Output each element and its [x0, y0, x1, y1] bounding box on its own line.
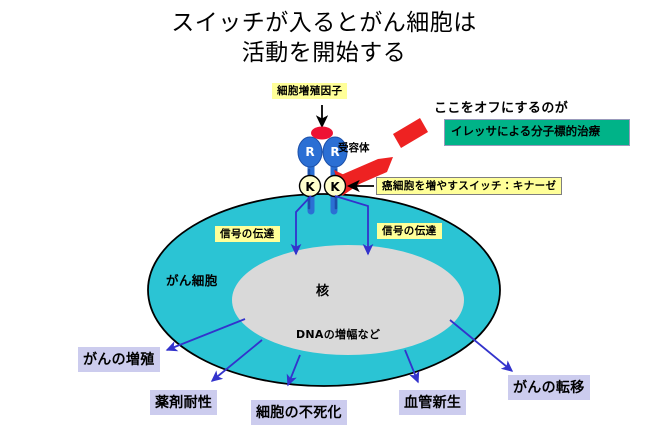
- diagram-canvas: スイッチが入るとがん細胞は 活動を開始する: [0, 0, 648, 432]
- outcome-label-metastasis: がんの転移: [508, 375, 590, 400]
- dna-amplification-label: DNAの増幅など: [296, 326, 380, 342]
- receptor-domain-right-letter: R: [327, 145, 343, 159]
- kinase-right-letter: K: [327, 180, 343, 194]
- kinase-left-letter: K: [302, 180, 318, 194]
- signal-transduction-label-left: 信号の伝達: [215, 226, 280, 242]
- cancer-cell-label: がん細胞: [166, 270, 218, 289]
- nucleus-label: 核: [316, 280, 330, 299]
- receptor-domain-left-letter: R: [302, 145, 318, 159]
- outcome-label-angiogenesis: 血管新生: [399, 390, 466, 415]
- targeted-therapy-callout: イレッサによる分子標的治療: [444, 119, 630, 146]
- outcome-label-immortalization: 細胞の不死化: [251, 400, 347, 425]
- growth-factor-callout: 細胞増殖因子: [272, 83, 347, 99]
- growth-factor-ligand: [311, 127, 333, 140]
- outcome-label-drug-resistance: 薬剤耐性: [150, 390, 217, 415]
- signal-transduction-label-right: 信号の伝達: [377, 223, 442, 239]
- switch-off-annotation: ここをオフにするのが: [434, 97, 568, 116]
- outcome-label-proliferation: がんの増殖: [78, 347, 160, 372]
- kinase-switch-callout: 癌細胞を増やすスイッチ：キナーゼ: [376, 177, 562, 195]
